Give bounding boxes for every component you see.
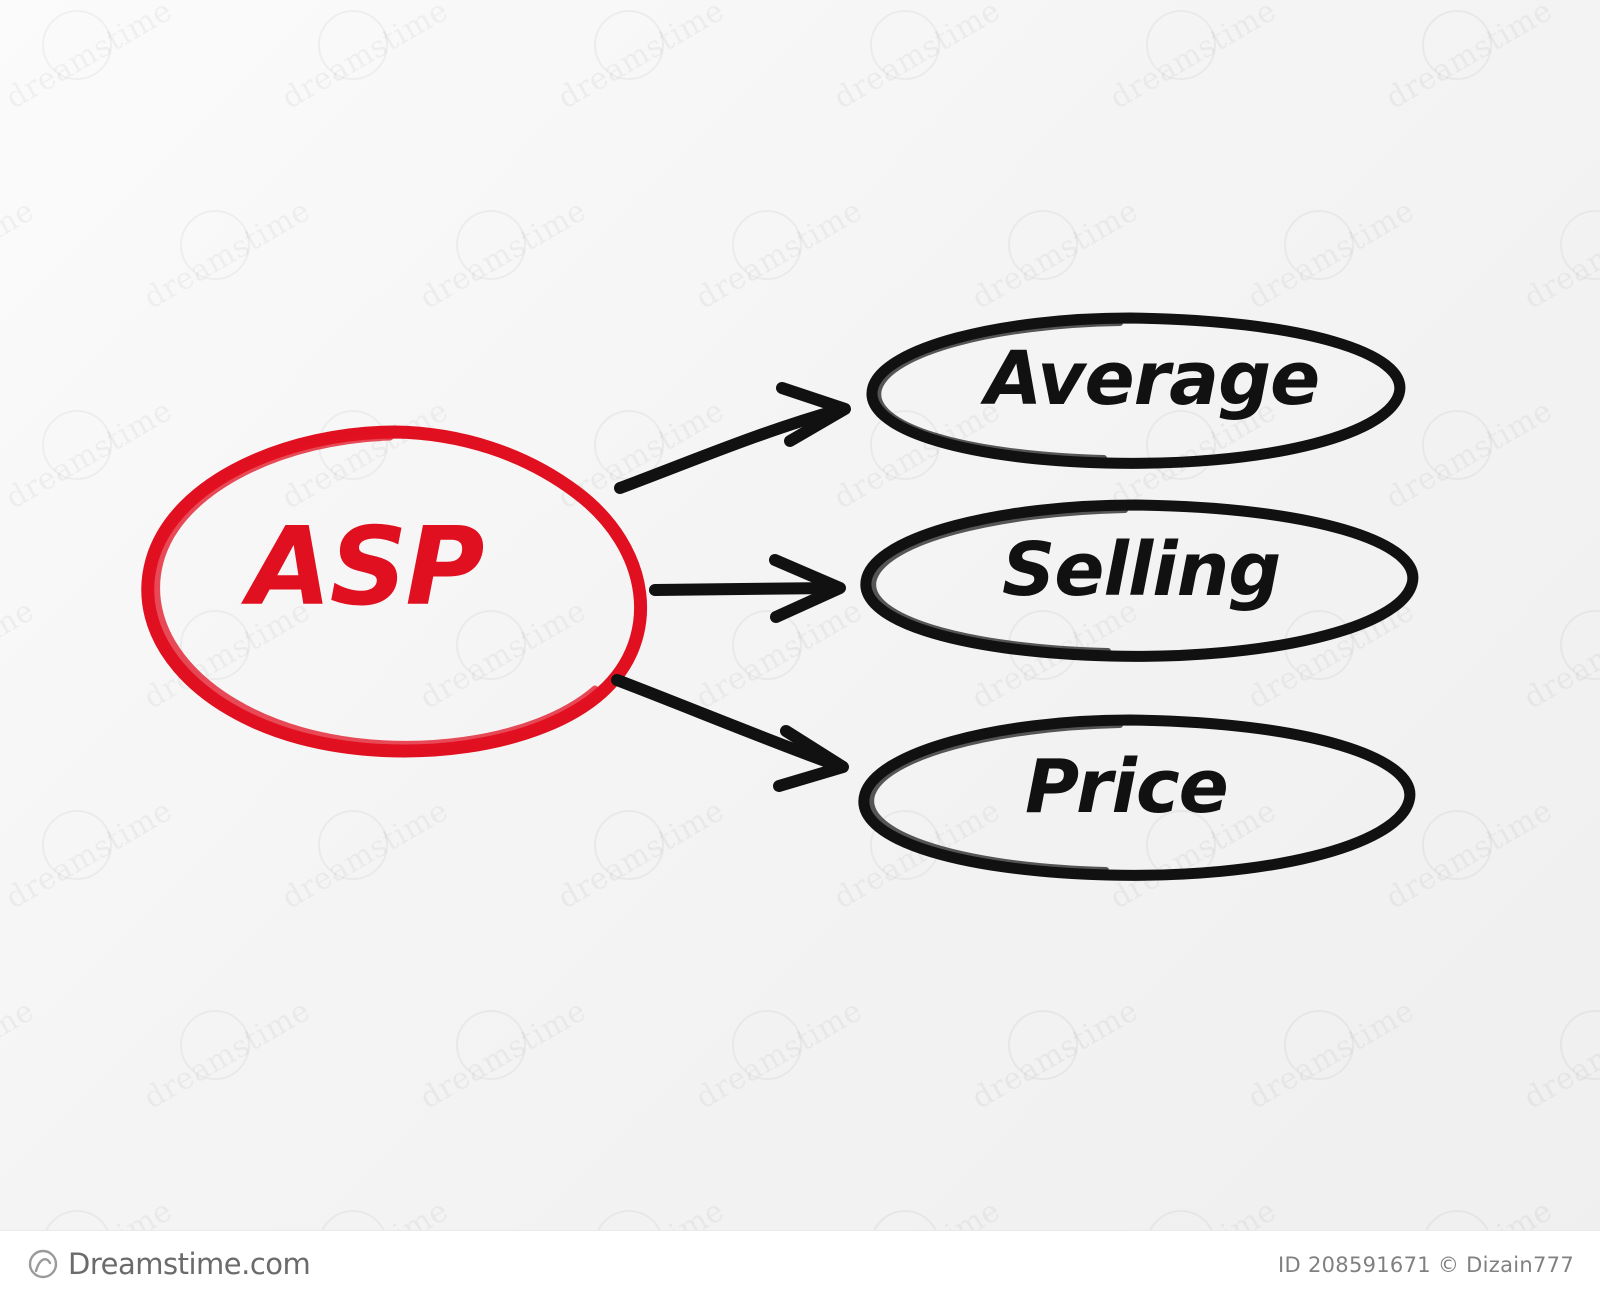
connector-asp-price [617, 680, 843, 786]
node-selling[interactable] [866, 505, 1413, 656]
connector-asp-selling [655, 560, 840, 617]
footer-bar: Dreamstime.com ID 208591671 © Dizain777 [0, 1230, 1600, 1300]
brand-text: Dreamstime.com [68, 1247, 310, 1281]
node-price[interactable] [864, 720, 1410, 875]
node-average[interactable] [872, 318, 1400, 463]
diagram-svg [0, 0, 1600, 1230]
credit-text: ID 208591671 © Dizain777 [1278, 1253, 1574, 1277]
brand-logo[interactable]: Dreamstime.com [28, 1247, 310, 1281]
dreamstime-logo-icon [28, 1249, 58, 1279]
canvas: dreamstimedreamstimedreamstimedreamstime… [0, 0, 1600, 1299]
connector-asp-average [620, 388, 845, 488]
node-asp[interactable] [148, 432, 641, 751]
